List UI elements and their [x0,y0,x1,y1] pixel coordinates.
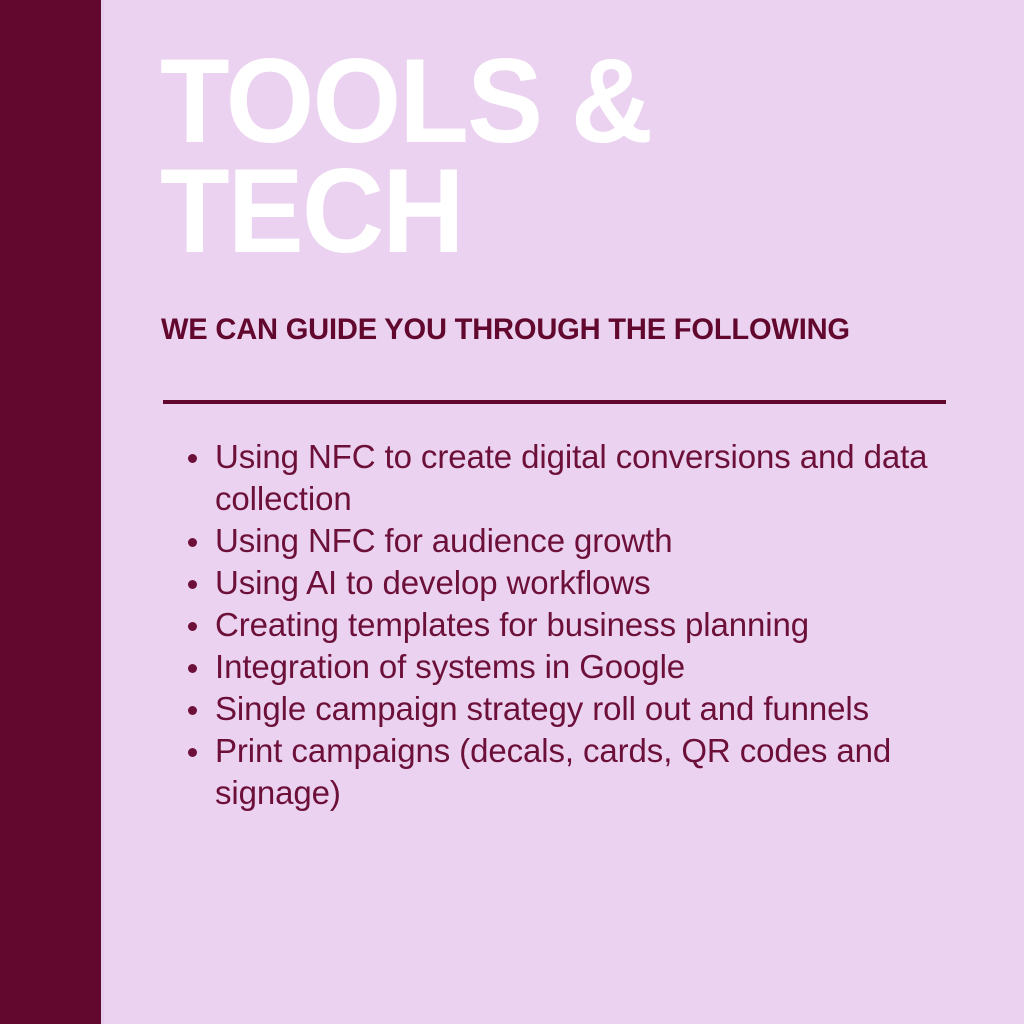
slide-content: TOOLS & TECH WE CAN GUIDE YOU THROUGH TH… [104,0,1024,1024]
list-item: Using NFC for audience growth [182,520,982,562]
list-item-label: Creating templates for business planning [215,604,982,646]
list-item: Single campaign strategy roll out and fu… [182,688,982,730]
list-item: Print campaigns (decals, cards, QR codes… [182,730,982,814]
bullet-dot-icon [188,748,197,757]
list-item: Using NFC to create digital conversions … [182,436,982,520]
bullet-dot-icon [188,454,197,463]
list-item-label: Integration of systems in Google [215,646,982,688]
bullet-dot-icon [188,664,197,673]
list-item-label: Using NFC to create digital conversions … [215,436,982,520]
topics-list: Using NFC to create digital conversions … [182,436,982,814]
list-item-label: Single campaign strategy roll out and fu… [215,688,982,730]
bullet-dot-icon [188,538,197,547]
page-title-line-2: TECH [160,156,958,266]
list-item: Integration of systems in Google [182,646,982,688]
bullet-dot-icon [188,706,197,715]
page-subtitle: WE CAN GUIDE YOU THROUGH THE FOLLOWING [161,313,995,347]
list-item-label: Using AI to develop workflows [215,562,982,604]
list-item: Creating templates for business planning [182,604,982,646]
list-item: Using AI to develop workflows [182,562,982,604]
horizontal-divider [163,400,946,404]
list-item-label: Using NFC for audience growth [215,520,982,562]
list-item-label: Print campaigns (decals, cards, QR codes… [215,730,982,814]
left-accent-bar [0,0,101,1024]
slide-canvas: TOOLS & TECH WE CAN GUIDE YOU THROUGH TH… [0,0,1024,1024]
page-title: TOOLS & TECH [160,46,1000,266]
bullet-dot-icon [188,622,197,631]
bullet-dot-icon [188,580,197,589]
page-title-line-1: TOOLS & [160,46,958,156]
